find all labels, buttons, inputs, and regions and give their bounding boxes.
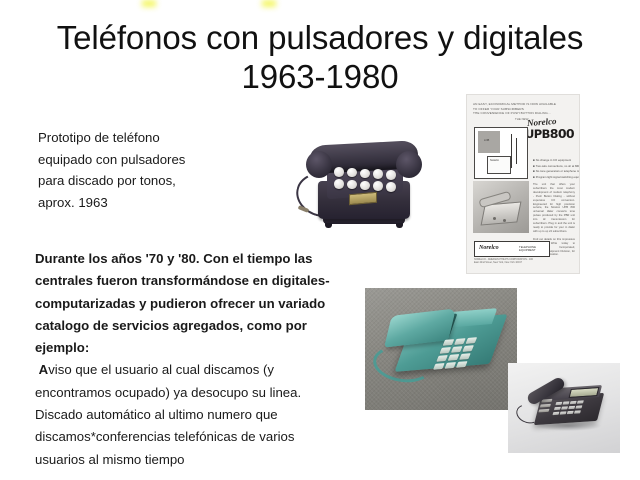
ad-fine-print: NORELCO - AMERIAN PHILIPS CORPORATION - … [474, 258, 572, 264]
ad-headline-line-3: THE CONVENIENCE OF PUSH BUTTON DIALING..… [473, 111, 573, 116]
ad-bullet-4: Program light signal switching equipment [533, 175, 575, 181]
digital-phone-key [577, 400, 584, 404]
image-digital-office-phone [508, 363, 620, 453]
paragraph2-line-4: discamos*conferencias telefónicas de var… [35, 426, 365, 448]
image-prototype-phone [292, 117, 438, 239]
teal-phone-key [465, 337, 476, 344]
paragraph2-bold-line-2: centrales fueron transformándose en digi… [35, 270, 365, 292]
digital-phone-key [570, 401, 577, 405]
digital-phone-function-key [540, 404, 551, 408]
ad-model-name: UPB800 [525, 126, 574, 141]
paragraph2-bold-line-5: ejemplo: [35, 337, 365, 359]
teal-phone-key [462, 345, 473, 352]
phone-button [386, 170, 396, 180]
teal-phone-key [448, 354, 459, 361]
image-norelco-advertisement: AN EASY, ECONOMICAL METHOD IS NOW AVAILA… [466, 94, 580, 274]
paragraph1-line-3: para discado por tonos, [38, 170, 278, 192]
slide-title: Teléfonos con pulsadores y digitales 196… [26, 18, 614, 96]
ad-diagram-block [478, 131, 500, 153]
ad-feature-bullets: No change in CO equipment Two-wire conne… [533, 158, 575, 180]
digital-phone-key [554, 407, 561, 411]
highlight-mark-left [142, 0, 156, 7]
paragraph2-lead-letter: A [39, 362, 49, 377]
ad-copy-paragraph-1: The unit that offers your subscribers th… [533, 183, 575, 234]
phone-button [347, 168, 357, 178]
paragraph2-bold-line-4: catalogo de servicios agregados, como po… [35, 315, 365, 337]
phone-button [347, 180, 357, 190]
digital-phone-key [562, 401, 569, 405]
teal-phone-key [439, 347, 450, 354]
paragraph2-line-2: encontramos ocupado) ya desocupo su line… [35, 382, 365, 404]
title-line-2: 1963-1980 [26, 57, 614, 96]
digital-phone-keypad [551, 400, 591, 420]
paragraph1-line-4: aprox. 1963 [38, 192, 278, 214]
teal-phone-key [459, 353, 470, 360]
teal-phone-key [454, 338, 465, 345]
phone-mouthpiece [396, 151, 422, 178]
paragraph-prototype: Prototipo de teléfono equipado con pulsa… [38, 127, 278, 213]
ad-diagram-label-lob: LOB [484, 139, 489, 142]
image-teal-phone [365, 288, 517, 410]
ad-bullet-3: No tone generators or telephone modifica… [533, 169, 575, 175]
ad-headline: AN EASY, ECONOMICAL METHOD IS NOW AVAILA… [473, 102, 573, 116]
paragraph2-bold-line-3: computarizadas y pudieron ofrecer un var… [35, 293, 365, 315]
digital-phone-key [574, 410, 581, 414]
digital-phone-key [575, 405, 582, 409]
digital-phone-function-key [538, 409, 549, 413]
ad-model-prefix: UPB [525, 127, 550, 141]
ad-product-photo [473, 181, 529, 233]
digital-phone-key [559, 411, 566, 415]
ad-footer-brand: Norelco [479, 245, 499, 251]
ad-photo-dial-dot [503, 219, 506, 222]
teal-phone-key [451, 346, 462, 353]
ad-footer-division: TELEPHONE EQUIPMENT [519, 246, 549, 253]
phone-button [373, 169, 383, 179]
paragraph2-bold-line-1: Durante los años '70 y '80. Con el tiemp… [35, 248, 365, 270]
phone-button [373, 181, 383, 191]
teal-phone-key [433, 363, 444, 370]
paragraph1-line-1: Prototipo de teléfono [38, 127, 278, 149]
paragraph2-line-3: Discado automático al ultimo numero que [35, 404, 365, 426]
ad-diagram-unit-label: Norelco [490, 159, 499, 162]
phone-earpiece [306, 151, 332, 178]
phone-button [334, 179, 344, 189]
digital-phone-key [552, 412, 559, 416]
teal-phone-key [456, 361, 467, 368]
digital-phone-key [567, 411, 574, 415]
paragraph2-line-1-rest: viso que el usuario al cual discamos (y [48, 362, 274, 377]
ad-diagram-bar-2 [516, 138, 517, 164]
digital-phone-key [555, 402, 562, 406]
teal-phone-key [444, 362, 455, 369]
highlight-mark-right [262, 0, 276, 7]
title-line-1: Teléfonos con pulsadores y digitales [26, 18, 614, 57]
paragraph2-line-1: Aviso que el usuario al cual discamos (y [35, 359, 365, 381]
teal-phone-key [443, 339, 454, 346]
ad-diagram-bar-1 [511, 134, 512, 168]
teal-phone-key [436, 355, 447, 362]
ad-footer-logo-box: Norelco TELEPHONE EQUIPMENT [474, 241, 550, 257]
paragraph1-line-2: equipado con pulsadores [38, 149, 278, 171]
slide-canvas: Teléfonos con pulsadores y digitales 196… [0, 0, 640, 480]
phone-foot-right [396, 223, 403, 228]
phone-button [360, 181, 370, 191]
phone-button [386, 182, 396, 192]
phone-button [360, 169, 370, 179]
ad-bullet-1: No change in CO equipment [533, 158, 575, 164]
ad-photo-dial-dot [493, 217, 496, 220]
digital-phone-key [568, 406, 575, 410]
phone-foot-left [325, 223, 332, 228]
ad-model-number: 800 [550, 126, 574, 141]
ad-fine-print-line-2: East 42nd Street, New York, New York 100… [474, 261, 572, 264]
paragraph-digital-services: Durante los años '70 y '80. Con el tiemp… [35, 248, 365, 471]
ad-diagram-unit-box: Norelco [487, 156, 511, 174]
phone-button [334, 167, 344, 177]
digital-phone-key [561, 406, 568, 410]
paragraph2-line-5: usuarios al mismo tiempo [35, 449, 365, 471]
ad-schematic-diagram: LOB Norelco [474, 127, 528, 179]
